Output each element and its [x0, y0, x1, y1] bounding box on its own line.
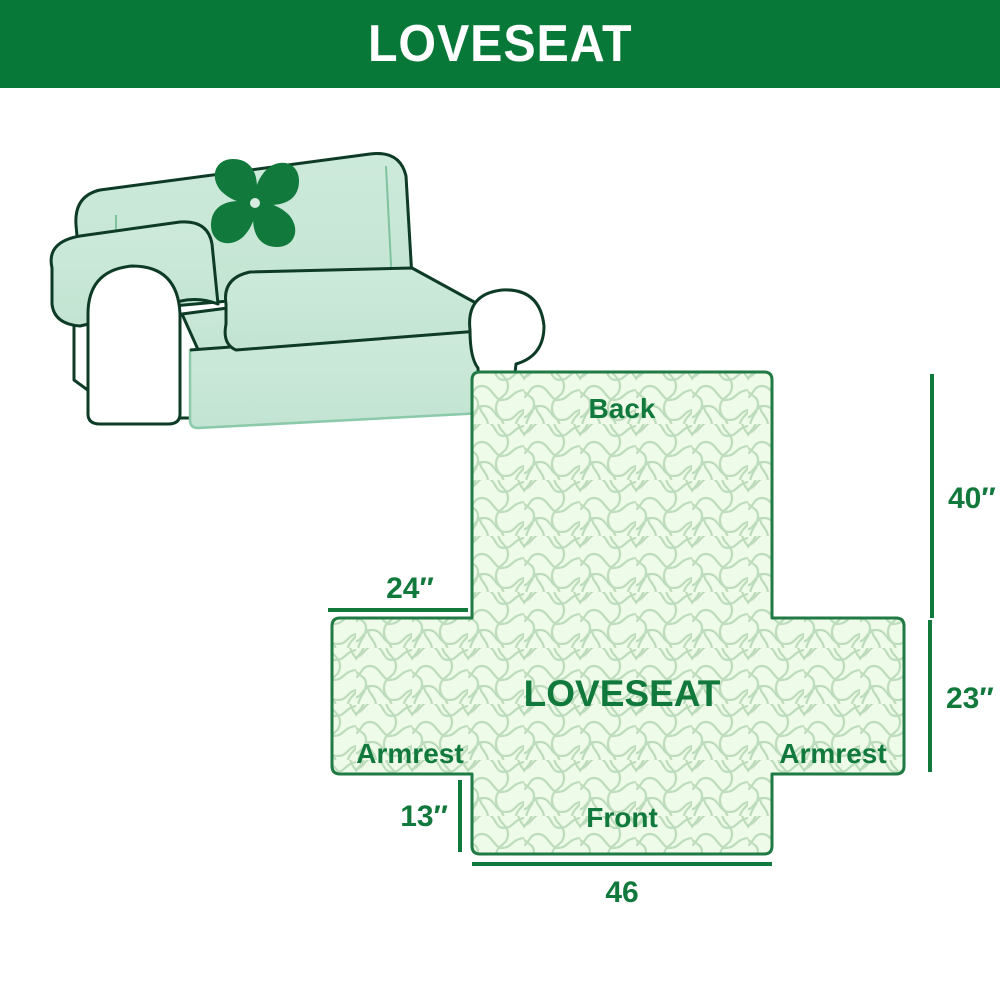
- dimension-back-width: 24″: [328, 572, 468, 610]
- dimension-total-width: 46: [472, 864, 772, 909]
- dimension-label-40: 40″: [948, 482, 996, 515]
- header-banner: LOVESEAT: [0, 0, 1000, 88]
- dimension-front-drop: 13″: [400, 780, 460, 852]
- dimension-back-height: 40″: [932, 374, 996, 618]
- dimension-label-13: 13″: [400, 800, 448, 833]
- diagram-center-label: LOVESEAT: [524, 673, 721, 714]
- cover-cross-shape: [332, 372, 904, 854]
- page-title: LOVESEAT: [368, 18, 632, 70]
- dimension-label-24: 24″: [386, 572, 434, 605]
- dimension-label-46: 46: [605, 876, 638, 909]
- dimension-label-23: 23″: [946, 682, 994, 715]
- slipcover-layout-diagram: Back Armrest Armrest Front LOVESEAT 40″ …: [300, 368, 1000, 948]
- panel-label-front: Front: [586, 802, 658, 833]
- panel-label-back: Back: [589, 393, 656, 424]
- dimension-armrest-height: 23″: [930, 620, 994, 772]
- page-canvas: Back Armrest Armrest Front LOVESEAT 40″ …: [0, 88, 1000, 1000]
- panel-label-armrest-left: Armrest: [356, 738, 463, 769]
- panel-label-armrest-right: Armrest: [779, 738, 886, 769]
